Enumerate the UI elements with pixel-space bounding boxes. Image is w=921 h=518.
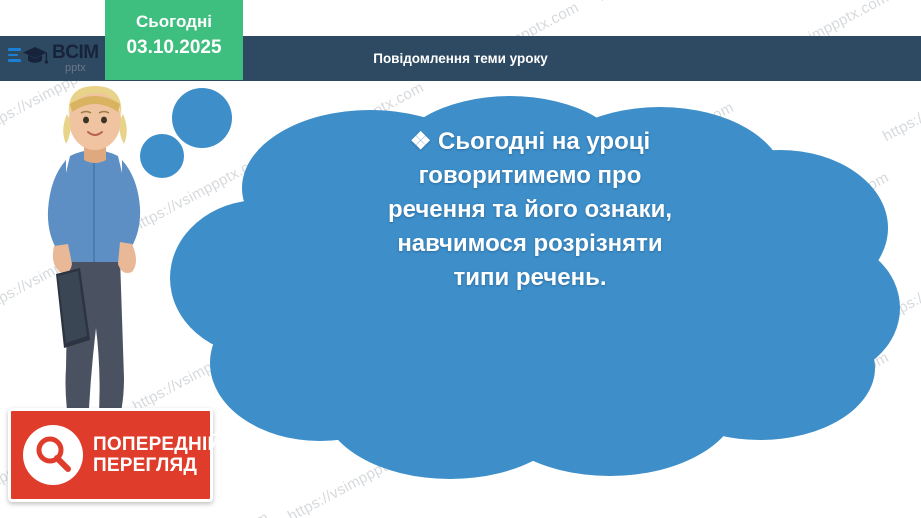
logo-name: BCIM <box>52 43 99 62</box>
slide-root: ❖ Сьогодні на уроці говоритимемо про реч… <box>0 0 921 518</box>
preview-badge-line1: ПОПЕРЕДНІЙ <box>93 434 221 455</box>
cloud-text-line-2: говоритимемо про <box>330 159 730 193</box>
cloud-text-block: ❖ Сьогодні на уроці говоритимемо про реч… <box>330 125 730 295</box>
cloud-text-line-1: ❖ Сьогодні на уроці <box>330 125 730 159</box>
magnifier-icon <box>23 425 83 485</box>
preview-badge-line2: ПЕРЕГЛЯД <box>93 455 221 476</box>
preview-badge-label: ПОПЕРЕДНІЙ ПЕРЕГЛЯД <box>93 434 221 477</box>
bottom-strip <box>0 502 921 518</box>
watermark-text: https://vsimppptx.com <box>595 0 737 5</box>
graduation-cap-icon <box>22 46 48 71</box>
cloud-text-line-4: навчимося розрізняти <box>330 227 730 261</box>
logo-mark <box>8 40 50 76</box>
teacher-illustration <box>20 78 170 438</box>
logo-speed-lines-icon <box>8 48 22 65</box>
logo-text: BCIM pptx <box>52 43 99 74</box>
date-badge-date: 03.10.2025 <box>105 37 243 59</box>
logo-subtitle: pptx <box>65 63 99 74</box>
teacher-figure <box>20 78 170 438</box>
preview-badge[interactable]: ПОПЕРЕДНІЙ ПЕРЕГЛЯД <box>8 408 213 502</box>
date-badge: Сьогодні 03.10.2025 <box>105 0 243 80</box>
cloud-text-line-5: типи речень. <box>330 261 730 295</box>
cloud-text-line-3: речення та його ознаки, <box>330 193 730 227</box>
date-badge-today-label: Сьогодні <box>105 12 243 32</box>
